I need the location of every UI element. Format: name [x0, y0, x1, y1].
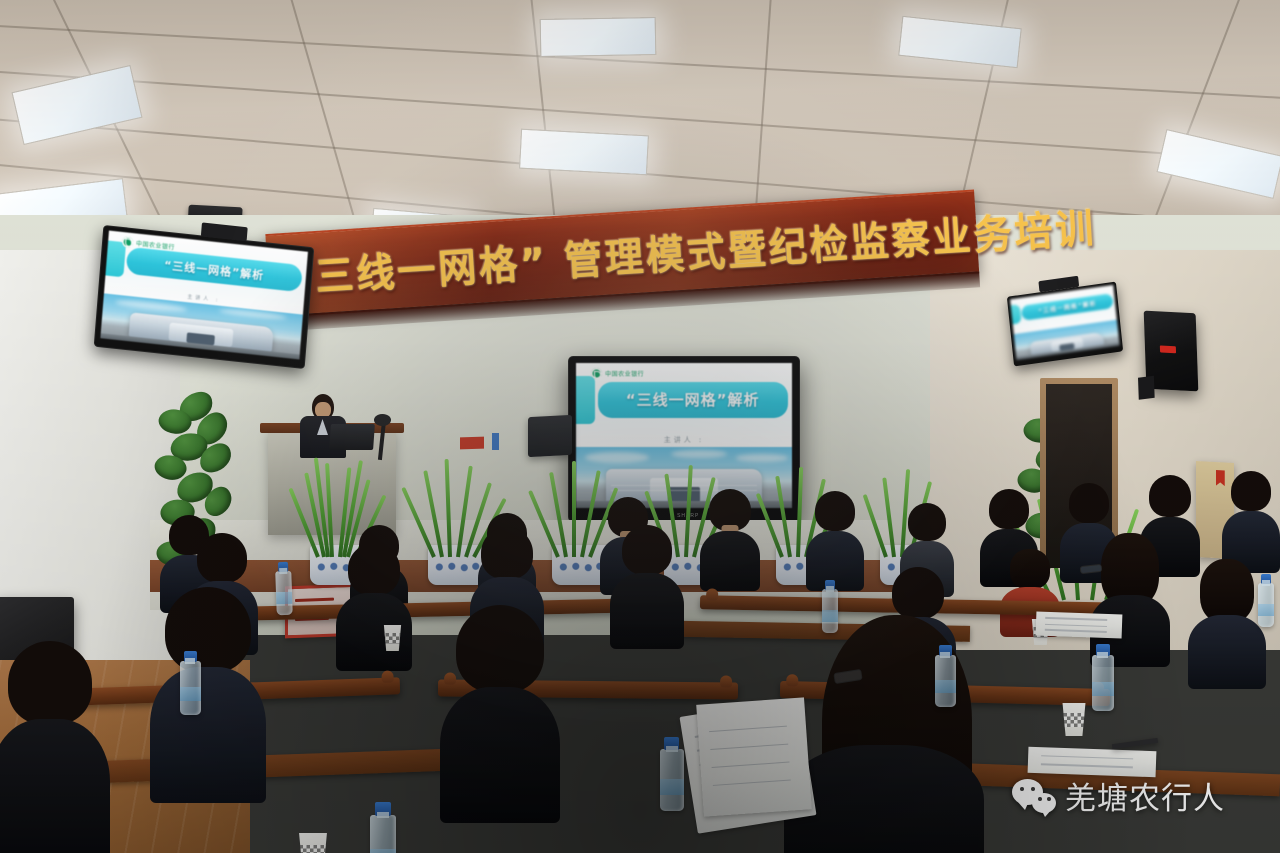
wechat-account-name: 羌塘农行人: [1065, 773, 1225, 818]
head: [622, 525, 672, 575]
ceiling-light-panel: [519, 129, 649, 176]
wall-speaker: [1144, 311, 1199, 392]
head: [989, 489, 1029, 529]
paper-cup: [1060, 703, 1088, 736]
head: [481, 527, 533, 579]
audience-member-foreground: [800, 615, 1010, 853]
slide-subtitle: 主讲人 :: [576, 435, 792, 445]
water-bottle: [1258, 583, 1274, 627]
audience-member: [700, 489, 760, 589]
pen: [1112, 738, 1158, 749]
paper-cup: [296, 833, 330, 853]
reading-papers: [696, 697, 812, 816]
head: [1231, 471, 1271, 511]
head: [1010, 549, 1050, 589]
abc-bank-logo: 中国农业银行: [591, 368, 644, 379]
slide-title-bar: “三线一网格”解析: [126, 247, 303, 292]
slide-title: “三线一网格”解析: [164, 256, 265, 283]
torso: [700, 531, 760, 591]
wechat-watermark: 羌塘农行人: [1012, 773, 1225, 818]
abc-logo-name: 中国农业银行: [605, 369, 644, 378]
torso: [440, 687, 560, 823]
document-sheet: [1036, 612, 1123, 639]
water-bottle: [275, 571, 293, 616]
slide-upper: 中国农业银行 “三线一网格”解析 主讲人 :: [576, 363, 792, 447]
desk-surface: [60, 748, 481, 785]
wechat-icon: [1012, 779, 1056, 813]
audience-member: [0, 641, 110, 853]
water-bottle: [935, 655, 956, 707]
left-wall-tv: 中国农业银行 “三线一网格”解析 主讲人 :: [94, 225, 315, 369]
slide-content-left: 中国农业银行 “三线一网格”解析 主讲人 :: [100, 231, 308, 360]
head: [165, 587, 251, 673]
head: [1069, 483, 1109, 523]
ceiling-light-panel: [540, 17, 657, 57]
photo-scene: 曲分行 “三线一网格” 管理模式暨纪检监察业务培训 中国农业银行 “三线一网格”…: [0, 0, 1280, 853]
water-bottle: [180, 661, 201, 715]
torso: [150, 667, 266, 803]
audience-member: [150, 587, 266, 797]
head: [456, 605, 544, 693]
audience-member: [806, 491, 864, 589]
slide-content-right: “三线一网格”解析: [1010, 285, 1119, 360]
slide-title-bar: “三线一网格”解析: [1021, 293, 1113, 321]
head: [348, 543, 400, 595]
audience-member: [610, 525, 684, 647]
slide-side-accent: [576, 376, 595, 423]
head: [8, 641, 92, 725]
torso: [336, 593, 412, 671]
torso: [806, 531, 864, 591]
abc-logo-mark: [591, 368, 602, 379]
water-bottle: [660, 749, 684, 811]
head: [197, 533, 247, 583]
audience-member: [1188, 559, 1266, 685]
microphone-head: [374, 414, 391, 426]
head: [1149, 475, 1191, 517]
torso: [610, 573, 684, 649]
head: [1200, 559, 1254, 623]
slide-title: “三线一网格”解析: [626, 389, 760, 410]
slide-title: “三线一网格”解析: [1038, 298, 1097, 315]
speaker-bracket: [1138, 376, 1155, 400]
head: [815, 491, 855, 531]
audience-member: [440, 605, 560, 817]
speaker-brand-logo: [1159, 346, 1175, 354]
head: [908, 503, 946, 541]
torso: [0, 719, 110, 853]
slide-title-bar: “三线一网格”解析: [598, 382, 788, 417]
audience-member: [1222, 471, 1280, 571]
water-bottle: [1092, 655, 1114, 711]
head: [892, 567, 944, 619]
abc-logo-mark: [122, 236, 134, 248]
slide-side-accent: [1011, 304, 1022, 325]
audience-member: [336, 543, 412, 667]
torso: [1188, 615, 1266, 689]
water-bottle: [370, 815, 396, 853]
